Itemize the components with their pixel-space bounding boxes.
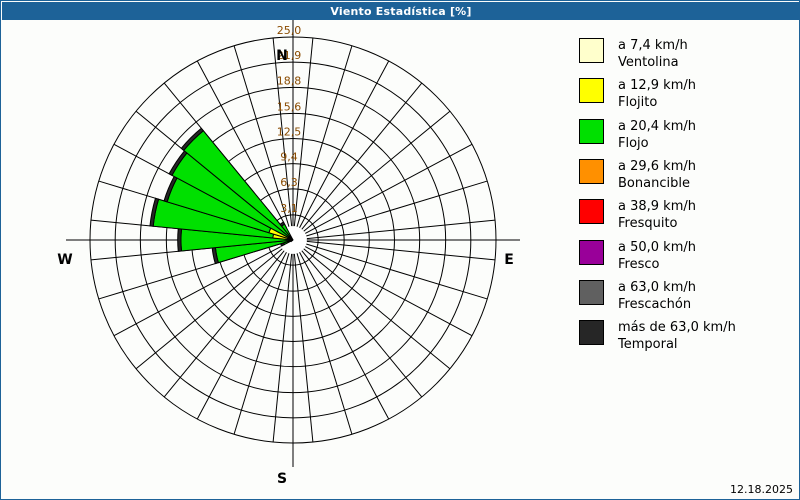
legend-item-speed: a 63,0 km/h (618, 279, 696, 296)
legend-item[interactable]: a 12,9 km/hFlojito (579, 77, 794, 111)
legend-item-speed: más de 63,0 km/h (618, 319, 736, 336)
radial-tick-label: 25,0 (277, 24, 302, 37)
cardinal-label-north: N (2, 48, 562, 64)
legend-item-speed: a 12,9 km/h (618, 77, 696, 94)
wind-rose-petals (150, 128, 293, 263)
legend-item[interactable]: a 29,6 km/hBonancible (579, 158, 794, 192)
legend-item-name: Flojito (618, 94, 696, 111)
radial-tick-label: 15,6 (277, 100, 302, 113)
date-stamp: 12.18.2025 (730, 483, 793, 496)
legend-color-swatch (579, 78, 604, 103)
legend-item-name: Bonancible (618, 175, 696, 192)
cardinal-label-west: W (50, 252, 80, 268)
legend-color-swatch (579, 38, 604, 63)
legend-color-swatch (579, 320, 604, 345)
legend-item-text: a 63,0 km/hFrescachón (618, 279, 696, 313)
chart-window: Viento Estadística [%] 3,16,39,412,515,6… (0, 0, 800, 500)
legend-item-text: más de 63,0 km/hTemporal (618, 319, 736, 353)
window-titlebar: Viento Estadística [%] (2, 2, 800, 20)
legend-item-name: Temporal (618, 336, 736, 353)
legend-item[interactable]: más de 63,0 km/hTemporal (579, 319, 794, 353)
cardinal-label-south: S (2, 471, 562, 487)
wind-rose-petal-segment (178, 229, 182, 252)
legend-item-name: Fresquito (618, 215, 696, 232)
legend-color-swatch (579, 119, 604, 144)
legend-item-speed: a 7,4 km/h (618, 37, 688, 54)
legend-item[interactable]: a 50,0 km/hFresco (579, 239, 794, 273)
legend-item-speed: a 50,0 km/h (618, 239, 696, 256)
legend-item-speed: a 20,4 km/h (618, 118, 696, 135)
legend-item-speed: a 38,9 km/h (618, 198, 696, 215)
legend-item-name: Fresco (618, 256, 696, 273)
grid-spoke (307, 241, 495, 260)
legend-item-text: a 7,4 km/hVentolina (618, 37, 688, 71)
window-title: Viento Estadística [%] (330, 5, 471, 18)
radial-tick-label: 3,1 (280, 202, 298, 215)
grid-spoke (273, 254, 292, 442)
legend-item-text: a 29,6 km/hBonancible (618, 158, 696, 192)
grid-spoke (294, 254, 313, 442)
legend-item-text: a 20,4 km/hFlojo (618, 118, 696, 152)
legend-item[interactable]: a 63,0 km/hFrescachón (579, 279, 794, 313)
radial-tick-label: 6,3 (280, 176, 298, 189)
legend-item-speed: a 29,6 km/h (618, 158, 696, 175)
radial-tick-label: 18,8 (277, 74, 302, 87)
radial-tick-label: 12,5 (277, 126, 302, 139)
legend-item[interactable]: a 20,4 km/hFlojo (579, 118, 794, 152)
wind-rose-plot: 3,16,39,412,515,618,821,925,0 N S W E (2, 20, 562, 500)
legend-color-swatch (579, 240, 604, 265)
legend-item-name: Ventolina (618, 54, 688, 71)
legend-item-text: a 50,0 km/hFresco (618, 239, 696, 273)
legend-color-swatch (579, 159, 604, 184)
grid-spoke (307, 220, 495, 239)
legend-item[interactable]: a 38,9 km/hFresquito (579, 198, 794, 232)
legend-color-swatch (579, 199, 604, 224)
legend-item-text: a 38,9 km/hFresquito (618, 198, 696, 232)
legend-item[interactable]: a 7,4 km/hVentolina (579, 37, 794, 71)
wind-rose-svg: 3,16,39,412,515,618,821,925,0 (2, 20, 562, 500)
legend-item-name: Frescachón (618, 296, 696, 313)
cardinal-label-east: E (494, 252, 524, 268)
legend: a 7,4 km/hVentolinaa 12,9 km/hFlojitoa 2… (579, 37, 794, 360)
legend-color-swatch (579, 280, 604, 305)
radial-tick-label: 9,4 (280, 151, 298, 164)
legend-item-text: a 12,9 km/hFlojito (618, 77, 696, 111)
legend-item-name: Flojo (618, 135, 696, 152)
